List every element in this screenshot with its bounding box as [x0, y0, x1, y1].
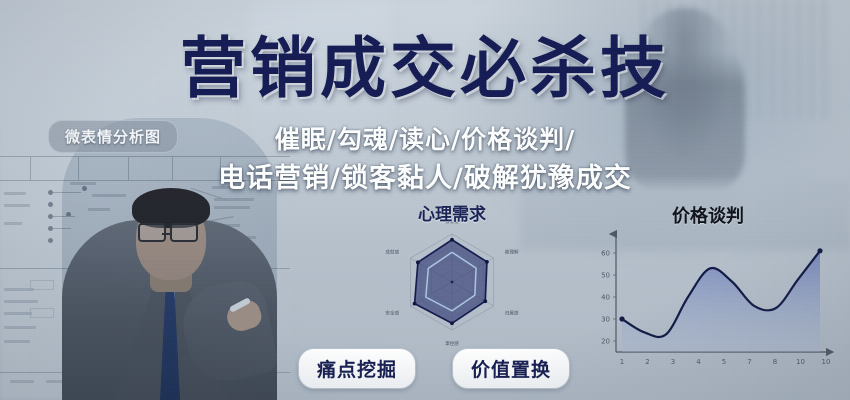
radar-chart-svg: 被尊重被理解归属感掌控感安全感成就感 [338, 222, 566, 348]
line-end-point [817, 248, 822, 253]
subtitle-line-1: 催眠/勾魂/读心/价格谈判/ [0, 120, 850, 156]
svg-text:4: 4 [696, 358, 701, 366]
y-axis-ticks: 6050403020 [601, 250, 616, 346]
svg-text:被尊重: 被尊重 [445, 222, 459, 225]
svg-text:30: 30 [601, 316, 610, 324]
svg-text:掌控感: 掌控感 [445, 340, 459, 347]
line-chart-svg: 6050403020 12345781010 [592, 226, 842, 378]
svg-text:50: 50 [601, 272, 610, 280]
svg-text:被理解: 被理解 [505, 249, 519, 256]
pill-value-exchange[interactable]: 价值置换 [452, 348, 570, 389]
line-chart-area [622, 251, 820, 352]
svg-text:40: 40 [601, 294, 610, 302]
marketing-banner: 微表情分析图 营销成交必杀技 催眠/勾魂/读心/价格谈判/ 电话营销/锁客黏人/… [0, 0, 850, 400]
svg-text:成就感: 成就感 [385, 249, 399, 256]
svg-text:安全感: 安全感 [385, 310, 399, 317]
subtitle-line-2: 电话营销/锁客黏人/破解犹豫成交 [0, 156, 850, 195]
x-axis-ticks: 12345781010 [620, 358, 831, 366]
line-chart-title: 价格谈判 [592, 202, 824, 228]
svg-text:10: 10 [822, 358, 831, 366]
svg-text:20: 20 [601, 338, 610, 346]
line-start-point [619, 316, 624, 321]
svg-text:1: 1 [620, 358, 624, 366]
svg-text:归属感: 归属感 [505, 310, 519, 317]
svg-text:5: 5 [722, 358, 726, 366]
page-title: 营销成交必杀技 [0, 36, 850, 102]
line-chart: 价格谈判 6050403020 12345781010 [592, 200, 842, 380]
svg-text:3: 3 [671, 358, 675, 366]
pill-pain-point-mining[interactable]: 痛点挖掘 [298, 348, 416, 389]
svg-text:8: 8 [773, 358, 777, 366]
svg-text:7: 7 [747, 358, 751, 366]
svg-text:2: 2 [645, 358, 649, 366]
radar-chart: 心理需求 被尊重被理解归属感掌控感安全感成就感 [338, 200, 566, 350]
svg-text:60: 60 [601, 250, 610, 258]
svg-text:10: 10 [796, 358, 805, 366]
